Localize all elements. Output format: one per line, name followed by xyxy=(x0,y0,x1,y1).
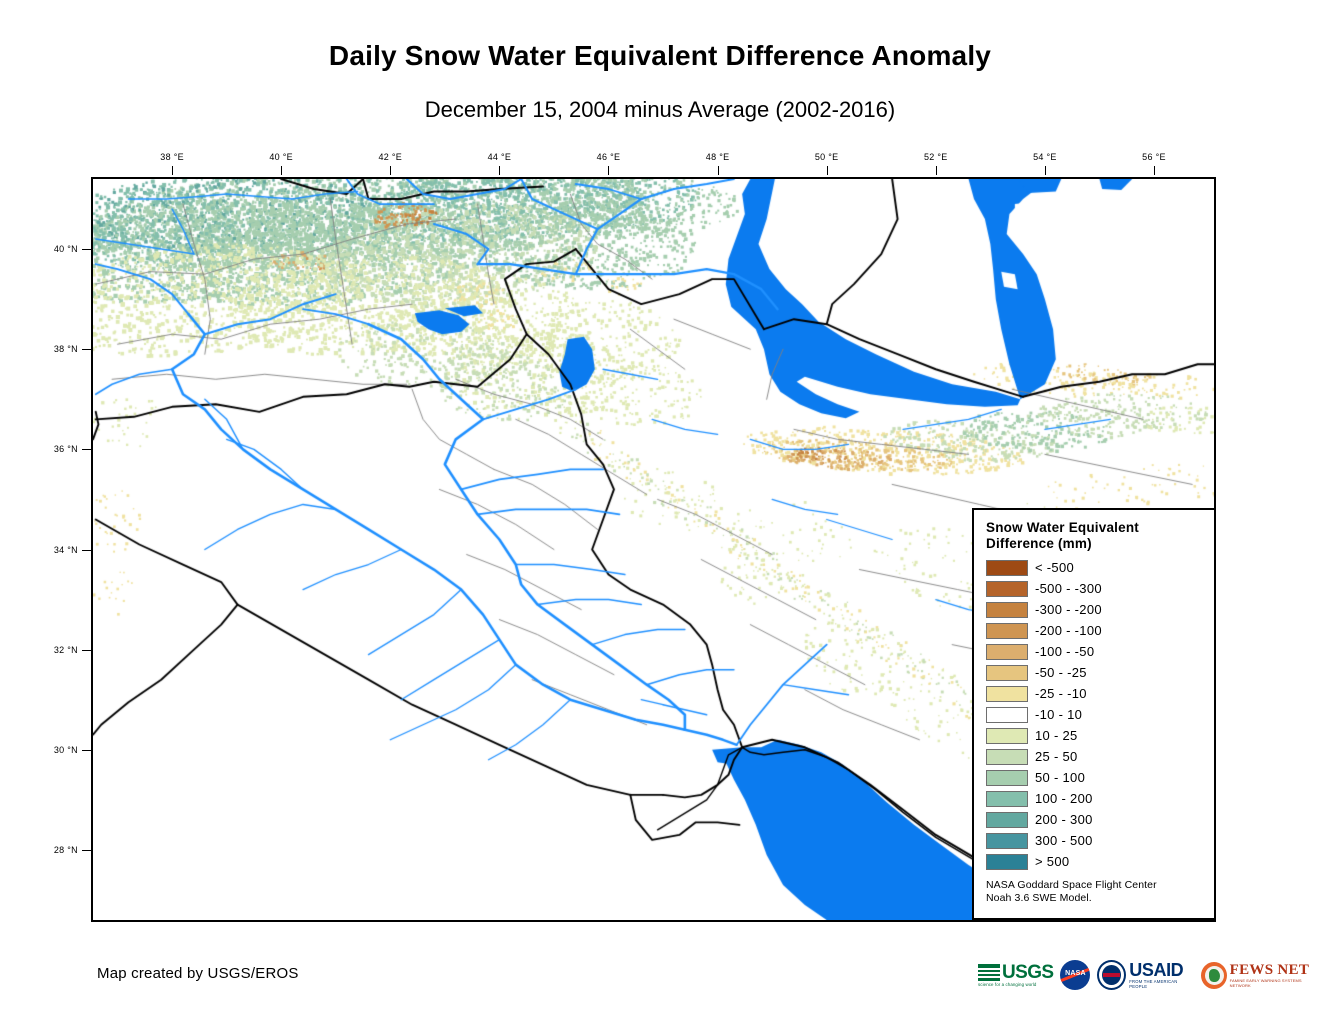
legend-swatch xyxy=(986,854,1028,870)
legend-row: -50 - -25 xyxy=(986,662,1204,683)
legend-label: < -500 xyxy=(1035,560,1074,575)
legend-swatch xyxy=(986,560,1028,576)
legend-swatch xyxy=(986,833,1028,849)
lat-tick xyxy=(82,349,91,350)
nasa-wordmark: NASA xyxy=(1060,970,1090,977)
legend-row: < -500 xyxy=(986,557,1204,578)
lon-tick xyxy=(1154,166,1155,175)
legend-label: -300 - -200 xyxy=(1035,602,1102,617)
legend-swatch xyxy=(986,623,1028,639)
lon-label: 40 °E xyxy=(269,152,293,162)
lon-label: 46 °E xyxy=(597,152,621,162)
legend-row: -200 - -100 xyxy=(986,620,1204,641)
legend-label: -50 - -25 xyxy=(1035,665,1087,680)
legend-swatch xyxy=(986,665,1028,681)
legend-row: -25 - -10 xyxy=(986,683,1204,704)
fews-tagline: FAMINE EARLY WARNING SYSTEMS NETWORK xyxy=(1230,978,1320,988)
page-subtitle: December 15, 2004 minus Average (2002-20… xyxy=(0,97,1320,123)
legend-entries: < -500-500 - -300-300 - -200-200 - -100-… xyxy=(986,557,1204,872)
lat-label: 38 °N xyxy=(54,344,78,354)
lon-tick xyxy=(390,166,391,175)
legend-label: -100 - -50 xyxy=(1035,644,1094,659)
legend-label: 50 - 100 xyxy=(1035,770,1085,785)
legend-row: 300 - 500 xyxy=(986,830,1204,851)
legend-row: 25 - 50 xyxy=(986,746,1204,767)
legend-row: 10 - 25 xyxy=(986,725,1204,746)
legend-row: -10 - 10 xyxy=(986,704,1204,725)
nasa-logo: NASA xyxy=(1060,958,1090,992)
lat-tick xyxy=(82,550,91,551)
usaid-tagline: FROM THE AMERICAN PEOPLE xyxy=(1129,979,1194,989)
usaid-seal-icon xyxy=(1097,960,1126,990)
legend-footer-line1: NASA Goddard Space Flight Center xyxy=(986,879,1204,892)
legend-swatch xyxy=(986,602,1028,618)
legend-row: > 500 xyxy=(986,851,1204,872)
legend-title: Snow Water Equivalent Difference (mm) xyxy=(986,520,1204,551)
legend-swatch xyxy=(986,770,1028,786)
lat-label: 36 °N xyxy=(54,444,78,454)
lat-tick xyxy=(82,650,91,651)
fews-logo: FEWS NET FAMINE EARLY WARNING SYSTEMS NE… xyxy=(1201,958,1320,992)
lon-tick xyxy=(499,166,500,175)
fews-wordmark: FEWS NET xyxy=(1230,963,1320,978)
legend-row: 100 - 200 xyxy=(986,788,1204,809)
legend-swatch xyxy=(986,791,1028,807)
lon-tick xyxy=(281,166,282,175)
legend-label: -25 - -10 xyxy=(1035,686,1087,701)
legend-footer-line2: Noah 3.6 SWE Model. xyxy=(986,892,1204,905)
usaid-logo: USAID FROM THE AMERICAN PEOPLE xyxy=(1097,958,1193,992)
usgs-wordmark: USGS xyxy=(1002,964,1053,981)
legend-swatch xyxy=(986,812,1028,828)
legend-label: -500 - -300 xyxy=(1035,581,1102,596)
lon-label: 50 °E xyxy=(815,152,839,162)
usgs-logo: USGS science for a changing world xyxy=(978,958,1053,992)
lon-tick xyxy=(1045,166,1046,175)
lat-tick xyxy=(82,850,91,851)
legend-swatch xyxy=(986,581,1028,597)
legend-footer: NASA Goddard Space Flight Center Noah 3.… xyxy=(986,879,1204,904)
lat-tick xyxy=(82,750,91,751)
lon-label: 38 °E xyxy=(160,152,184,162)
lat-tick xyxy=(82,449,91,450)
legend-label: 100 - 200 xyxy=(1035,791,1093,806)
legend-swatch xyxy=(986,707,1028,723)
legend-swatch xyxy=(986,749,1028,765)
lon-tick xyxy=(718,166,719,175)
usgs-tagline: science for a changing world xyxy=(978,982,1053,987)
lat-label: 40 °N xyxy=(54,244,78,254)
nasa-meatball-icon: NASA xyxy=(1060,960,1090,990)
lon-label: 52 °E xyxy=(924,152,948,162)
lon-label: 44 °E xyxy=(488,152,512,162)
legend-label: 200 - 300 xyxy=(1035,812,1093,827)
legend-label: 25 - 50 xyxy=(1035,749,1078,764)
fews-globe-icon xyxy=(1201,962,1227,989)
legend-swatch xyxy=(986,728,1028,744)
legend-label: 10 - 25 xyxy=(1035,728,1078,743)
lat-label: 28 °N xyxy=(54,845,78,855)
legend-title-line2: Difference (mm) xyxy=(986,536,1204,552)
legend-row: -500 - -300 xyxy=(986,578,1204,599)
legend-row: -300 - -200 xyxy=(986,599,1204,620)
legend-title-line1: Snow Water Equivalent xyxy=(986,520,1204,536)
lon-label: 54 °E xyxy=(1033,152,1057,162)
lat-label: 30 °N xyxy=(54,745,78,755)
legend-swatch xyxy=(986,644,1028,660)
page-title: Daily Snow Water Equivalent Difference A… xyxy=(0,40,1320,72)
legend-row: 50 - 100 xyxy=(986,767,1204,788)
lon-tick xyxy=(936,166,937,175)
legend-row: -100 - -50 xyxy=(986,641,1204,662)
agency-logos: USGS science for a changing world NASA U… xyxy=(978,957,1320,993)
legend-row: 200 - 300 xyxy=(986,809,1204,830)
lat-label: 32 °N xyxy=(54,645,78,655)
usgs-wave-icon xyxy=(978,964,1000,981)
map-credit: Map created by USGS/EROS xyxy=(97,965,299,982)
legend-swatch xyxy=(986,686,1028,702)
legend-label: > 500 xyxy=(1035,854,1069,869)
lat-tick xyxy=(82,249,91,250)
usaid-wordmark: USAID xyxy=(1129,962,1194,979)
legend-label: -200 - -100 xyxy=(1035,623,1102,638)
lon-label: 48 °E xyxy=(706,152,730,162)
lon-tick xyxy=(172,166,173,175)
lon-label: 56 °E xyxy=(1142,152,1166,162)
lat-label: 34 °N xyxy=(54,545,78,555)
lon-tick xyxy=(827,166,828,175)
legend-label: -10 - 10 xyxy=(1035,707,1082,722)
lon-label: 42 °E xyxy=(378,152,402,162)
lon-tick xyxy=(608,166,609,175)
legend-label: 300 - 500 xyxy=(1035,833,1093,848)
map-legend: Snow Water Equivalent Difference (mm) < … xyxy=(972,508,1216,920)
